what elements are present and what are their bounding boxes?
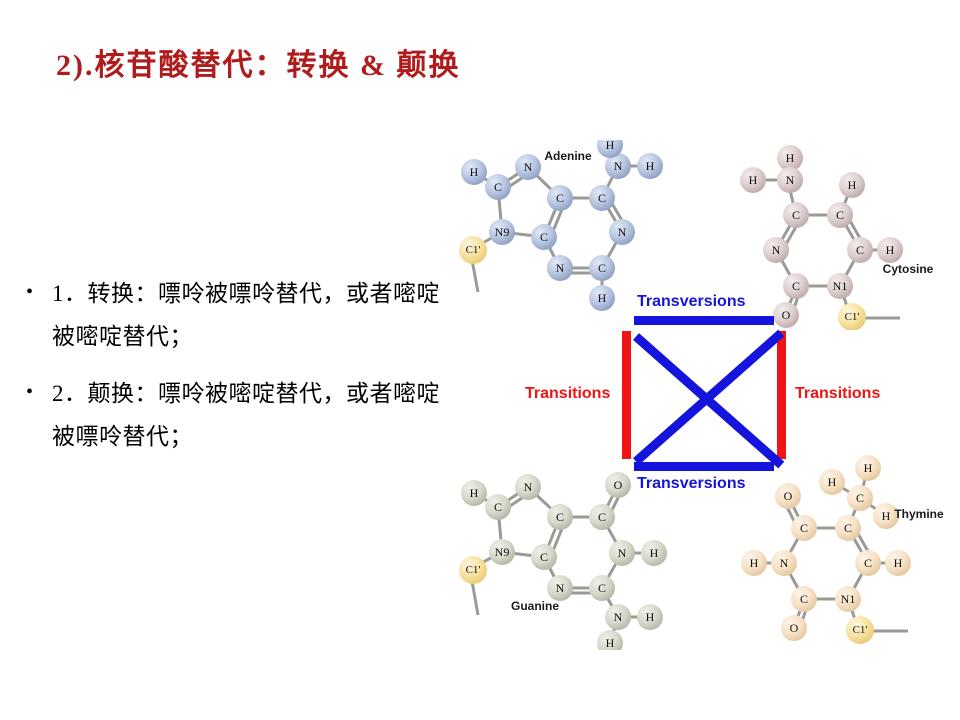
svg-text:H: H	[606, 140, 615, 152]
svg-text:N: N	[618, 225, 627, 239]
svg-text:H: H	[470, 165, 479, 179]
svg-text:N1: N1	[841, 592, 856, 606]
svg-text:O: O	[784, 489, 793, 503]
svg-text:O: O	[782, 308, 791, 322]
svg-text:C: C	[856, 243, 864, 257]
svg-text:N: N	[524, 480, 533, 494]
svg-text:N: N	[556, 581, 565, 595]
svg-text:H: H	[886, 243, 895, 257]
svg-text:C: C	[494, 180, 502, 194]
svg-text:H: H	[848, 178, 857, 192]
transition-label-left: Transitions	[525, 385, 610, 403]
svg-text:N: N	[786, 173, 795, 187]
svg-text:H: H	[786, 151, 795, 165]
svg-text:C1': C1'	[466, 244, 481, 256]
svg-text:N9: N9	[495, 545, 510, 559]
svg-text:C: C	[792, 279, 800, 293]
svg-text:N9: N9	[495, 225, 510, 239]
svg-text:H: H	[749, 173, 758, 187]
svg-text:N: N	[772, 243, 781, 257]
cytosine-caption: Cytosine	[883, 262, 934, 276]
svg-text:C: C	[598, 261, 606, 275]
svg-text:H: H	[646, 159, 655, 173]
slide-canvas: 2).核苷酸替代：转换 & 颠换 • 1．转换：嘌呤被嘌呤替代，或者嘧啶被嘧啶替…	[0, 0, 960, 720]
bullet-marker: •	[26, 372, 52, 412]
svg-text:C: C	[598, 581, 606, 595]
nucleotide-substitution-figure: H C N N9 C1' C C C N C N H N H H Adenine	[440, 130, 960, 650]
svg-text:C: C	[540, 550, 548, 564]
bullet-list: • 1．转换：嘌呤被嘌呤替代，或者嘧啶被嘧啶替代； • 2．颠换：嘌呤被嘧啶替代…	[26, 272, 456, 472]
svg-text:C1': C1'	[853, 624, 868, 636]
svg-text:C: C	[836, 208, 844, 222]
transversion-label-top: Transversions	[637, 293, 746, 311]
svg-text:O: O	[790, 621, 799, 635]
svg-text:C: C	[540, 230, 548, 244]
svg-text:C: C	[556, 510, 564, 524]
svg-text:C: C	[494, 500, 502, 514]
thymine-structure: H H C H O C C N H C H C N1 O C1' Thymine	[736, 450, 960, 650]
svg-text:C: C	[856, 491, 864, 505]
svg-text:N1: N1	[833, 279, 848, 293]
svg-text:H: H	[894, 556, 903, 570]
svg-text:H: H	[646, 610, 655, 624]
svg-text:C: C	[598, 510, 606, 524]
transition-bar-right	[777, 331, 786, 459]
transition-label-right: Transitions	[795, 385, 880, 403]
svg-text:N: N	[618, 546, 627, 560]
svg-text:C: C	[792, 208, 800, 222]
svg-text:C: C	[556, 191, 564, 205]
svg-text:H: H	[650, 546, 659, 560]
svg-text:N: N	[556, 261, 565, 275]
svg-text:N: N	[614, 610, 623, 624]
list-item: • 2．颠换：嘌呤被嘧啶替代，或者嘧啶被嘌呤替代；	[26, 372, 456, 458]
svg-text:C: C	[864, 556, 872, 570]
transition-bar-left	[622, 331, 631, 459]
svg-text:N: N	[780, 556, 789, 570]
adenine-caption: Adenine	[544, 149, 592, 163]
svg-text:C: C	[844, 521, 852, 535]
svg-text:H: H	[828, 475, 837, 489]
thymine-caption: Thymine	[894, 507, 944, 521]
svg-text:C1': C1'	[466, 564, 481, 576]
bullet-text: 1．转换：嘌呤被嘌呤替代，或者嘧啶被嘧啶替代；	[52, 272, 442, 358]
bullet-marker: •	[26, 272, 52, 312]
svg-text:H: H	[470, 486, 479, 500]
svg-text:H: H	[882, 509, 891, 523]
svg-text:H: H	[598, 291, 607, 305]
svg-text:C: C	[800, 592, 808, 606]
list-item: • 1．转换：嘌呤被嘌呤替代，或者嘧啶被嘧啶替代；	[26, 272, 456, 358]
svg-text:C: C	[800, 521, 808, 535]
cytosine-structure: H H N H C C N C H C N1 O C1' Cytosine	[728, 140, 953, 330]
svg-text:O: O	[614, 478, 623, 492]
guanine-caption: Guanine	[511, 599, 559, 613]
svg-text:C1': C1'	[845, 311, 860, 323]
svg-text:H: H	[750, 556, 759, 570]
svg-text:H: H	[864, 461, 873, 475]
svg-text:C: C	[598, 191, 606, 205]
transversion-bar-top	[634, 316, 774, 325]
svg-text:H: H	[606, 636, 615, 650]
transversion-label-bottom: Transversions	[637, 475, 746, 493]
svg-text:N: N	[524, 160, 533, 174]
bullet-text: 2．颠换：嘌呤被嘧啶替代，或者嘧啶被嘌呤替代；	[52, 372, 442, 458]
svg-text:N: N	[614, 159, 623, 173]
transversion-bar-bottom	[634, 462, 774, 471]
page-title: 2).核苷酸替代：转换 & 颠换	[56, 40, 460, 84]
